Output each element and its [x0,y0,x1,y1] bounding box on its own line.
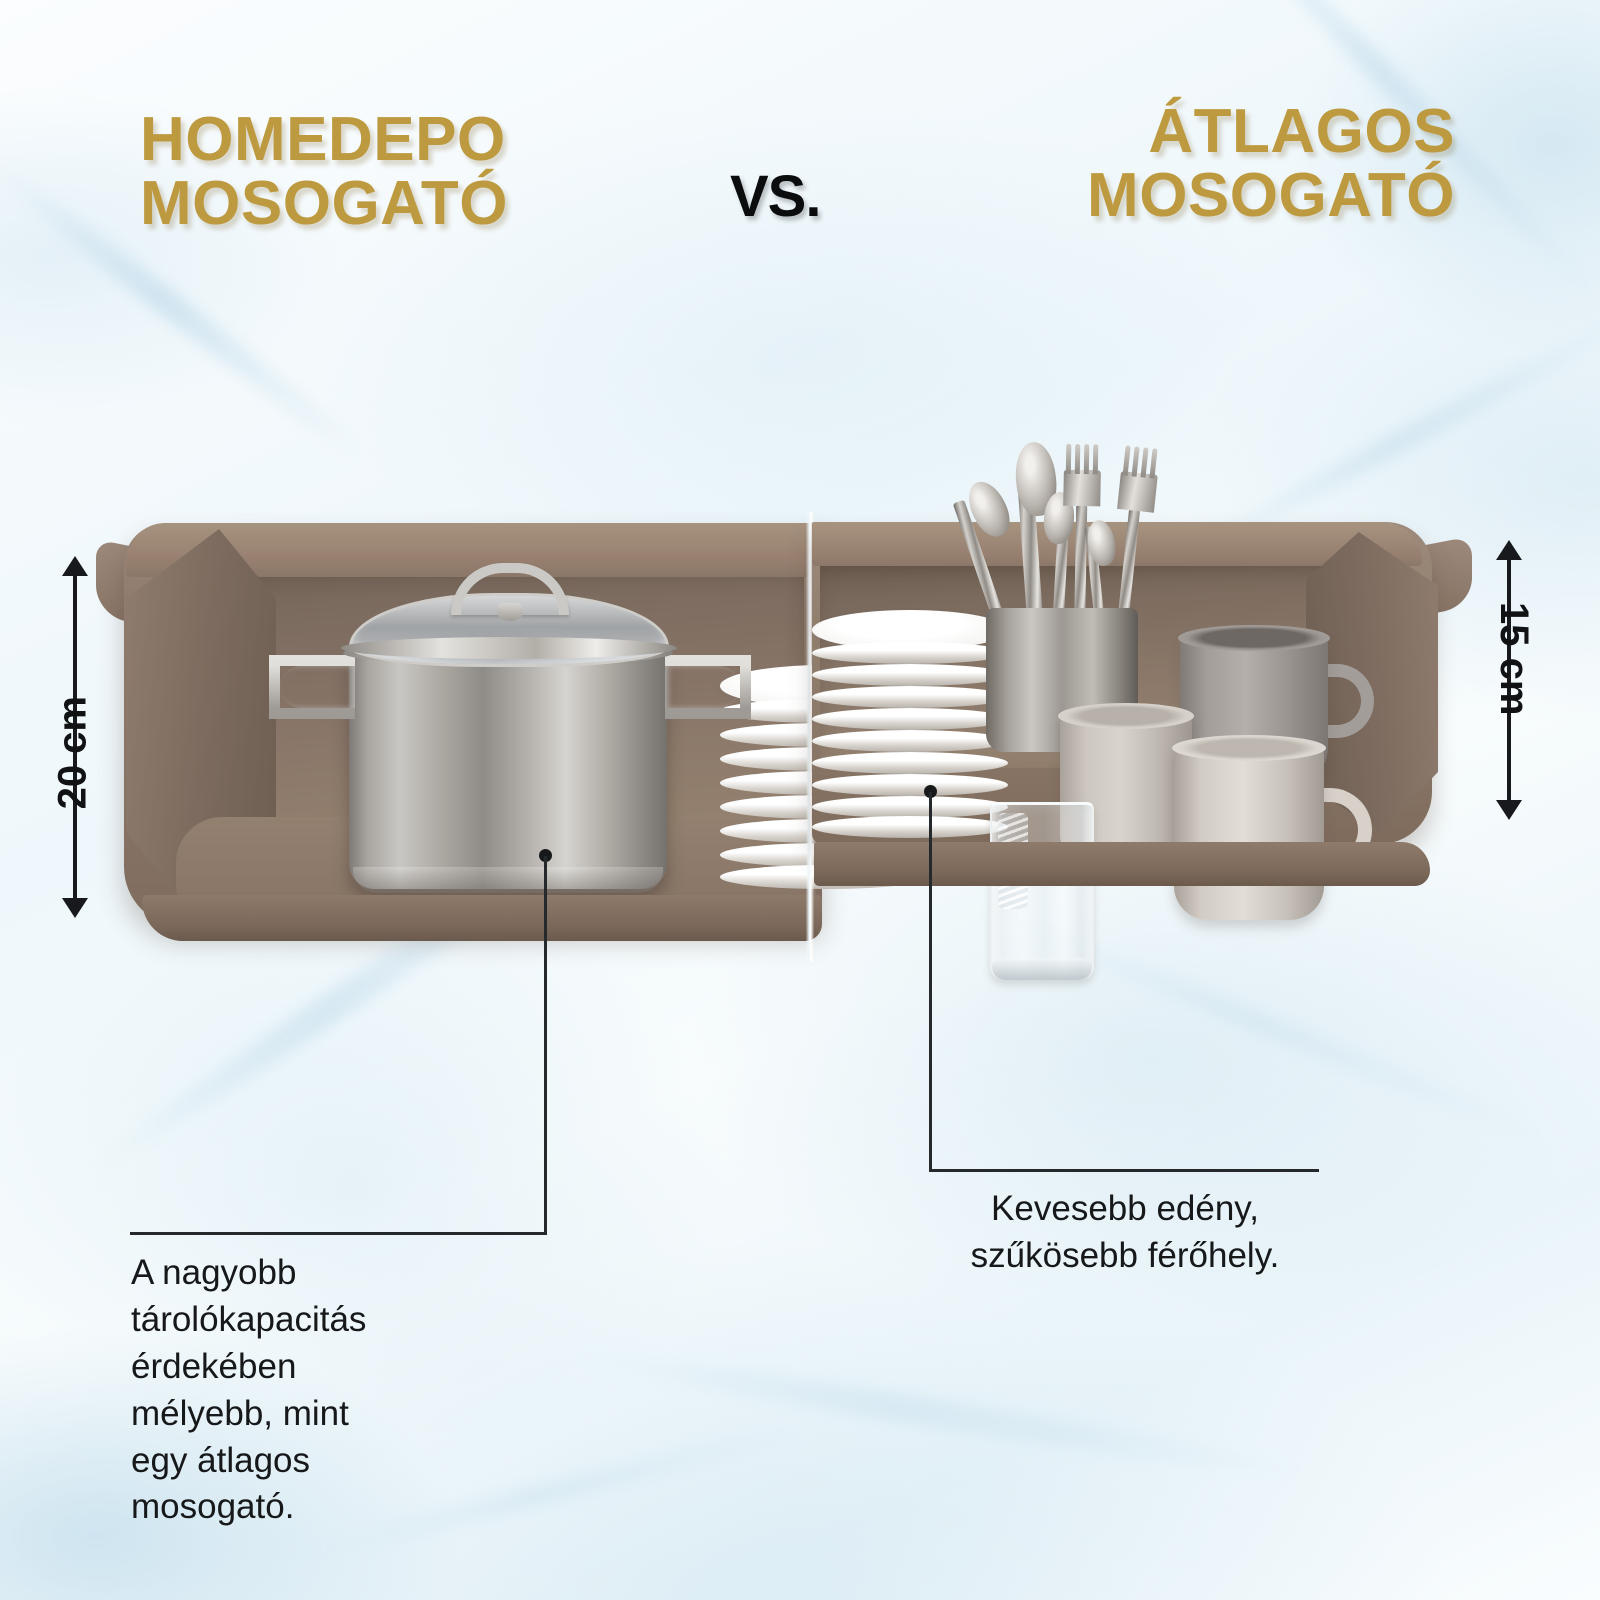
mug-light [1174,744,1324,920]
fork-tine [1084,444,1090,474]
left-product-title: HOMEDEPO MOSOGATÓ [140,108,508,236]
sink-front-lip [142,895,822,941]
fork-head [1117,471,1158,513]
depth-measure-right: 15 cm [1492,540,1526,820]
stockpot-lid-knob [497,603,523,621]
plate [812,774,1008,796]
stainless-stockpot [301,563,721,893]
stockpot-handle-right [665,655,751,719]
fork-head [1063,470,1101,507]
drinking-glass [990,802,1094,980]
depth-value-right: 15 cm [1491,602,1536,715]
mug-rim [1058,703,1194,729]
fork-tine [1132,446,1140,476]
stockpot-lid-edge [341,637,677,659]
caddy-rim [980,596,1144,622]
stockpot-handle-left [269,655,355,719]
fork-tine [1141,447,1149,477]
deep-sink-basin [96,515,822,935]
fork-tine [1066,444,1072,474]
stockpot-body [349,651,667,889]
vs-label: VS. [730,163,821,230]
mug-rim [1172,735,1326,761]
callout-leader-horizontal [929,1169,1319,1172]
fork-tine [1075,444,1081,474]
glass-base [992,958,1092,980]
stockpot-base-band [353,867,663,893]
mug-body [1174,744,1324,920]
callout-right-text: Kevesebb edény, szűkösebb férőhely. [900,1186,1350,1280]
callout-left-text: A nagyobb tárolókapacitás érdekében mély… [131,1250,366,1531]
depth-measure-left: 20 cm [58,556,92,918]
callout-leader-vertical [544,856,547,1234]
mug-rim [1178,625,1330,651]
right-product-title: ÁTLAGOS MOSOGATÓ [1087,100,1455,228]
plate [812,816,1008,838]
plate [812,752,1008,774]
marble-vein [305,1417,814,1562]
arrow-down-icon [62,898,88,918]
fork-tine [1123,445,1131,475]
callout-leader-horizontal [130,1232,547,1235]
arrow-down-icon [1496,800,1522,820]
fork-tine [1093,444,1099,474]
callout-leader-vertical [929,792,932,1171]
glass-body [990,802,1094,980]
sink-front-lip [814,842,1430,886]
plate [812,796,1008,818]
poster-canvas: HOMEDEPO MOSOGATÓ VS. ÁTLAGOS MOSOGATÓ [0,0,1600,1600]
depth-value-left: 20 cm [50,696,95,809]
shallow-sink-basin [812,522,1472,882]
product-comparison-photo [0,300,1600,960]
fork-tine [1149,448,1157,478]
